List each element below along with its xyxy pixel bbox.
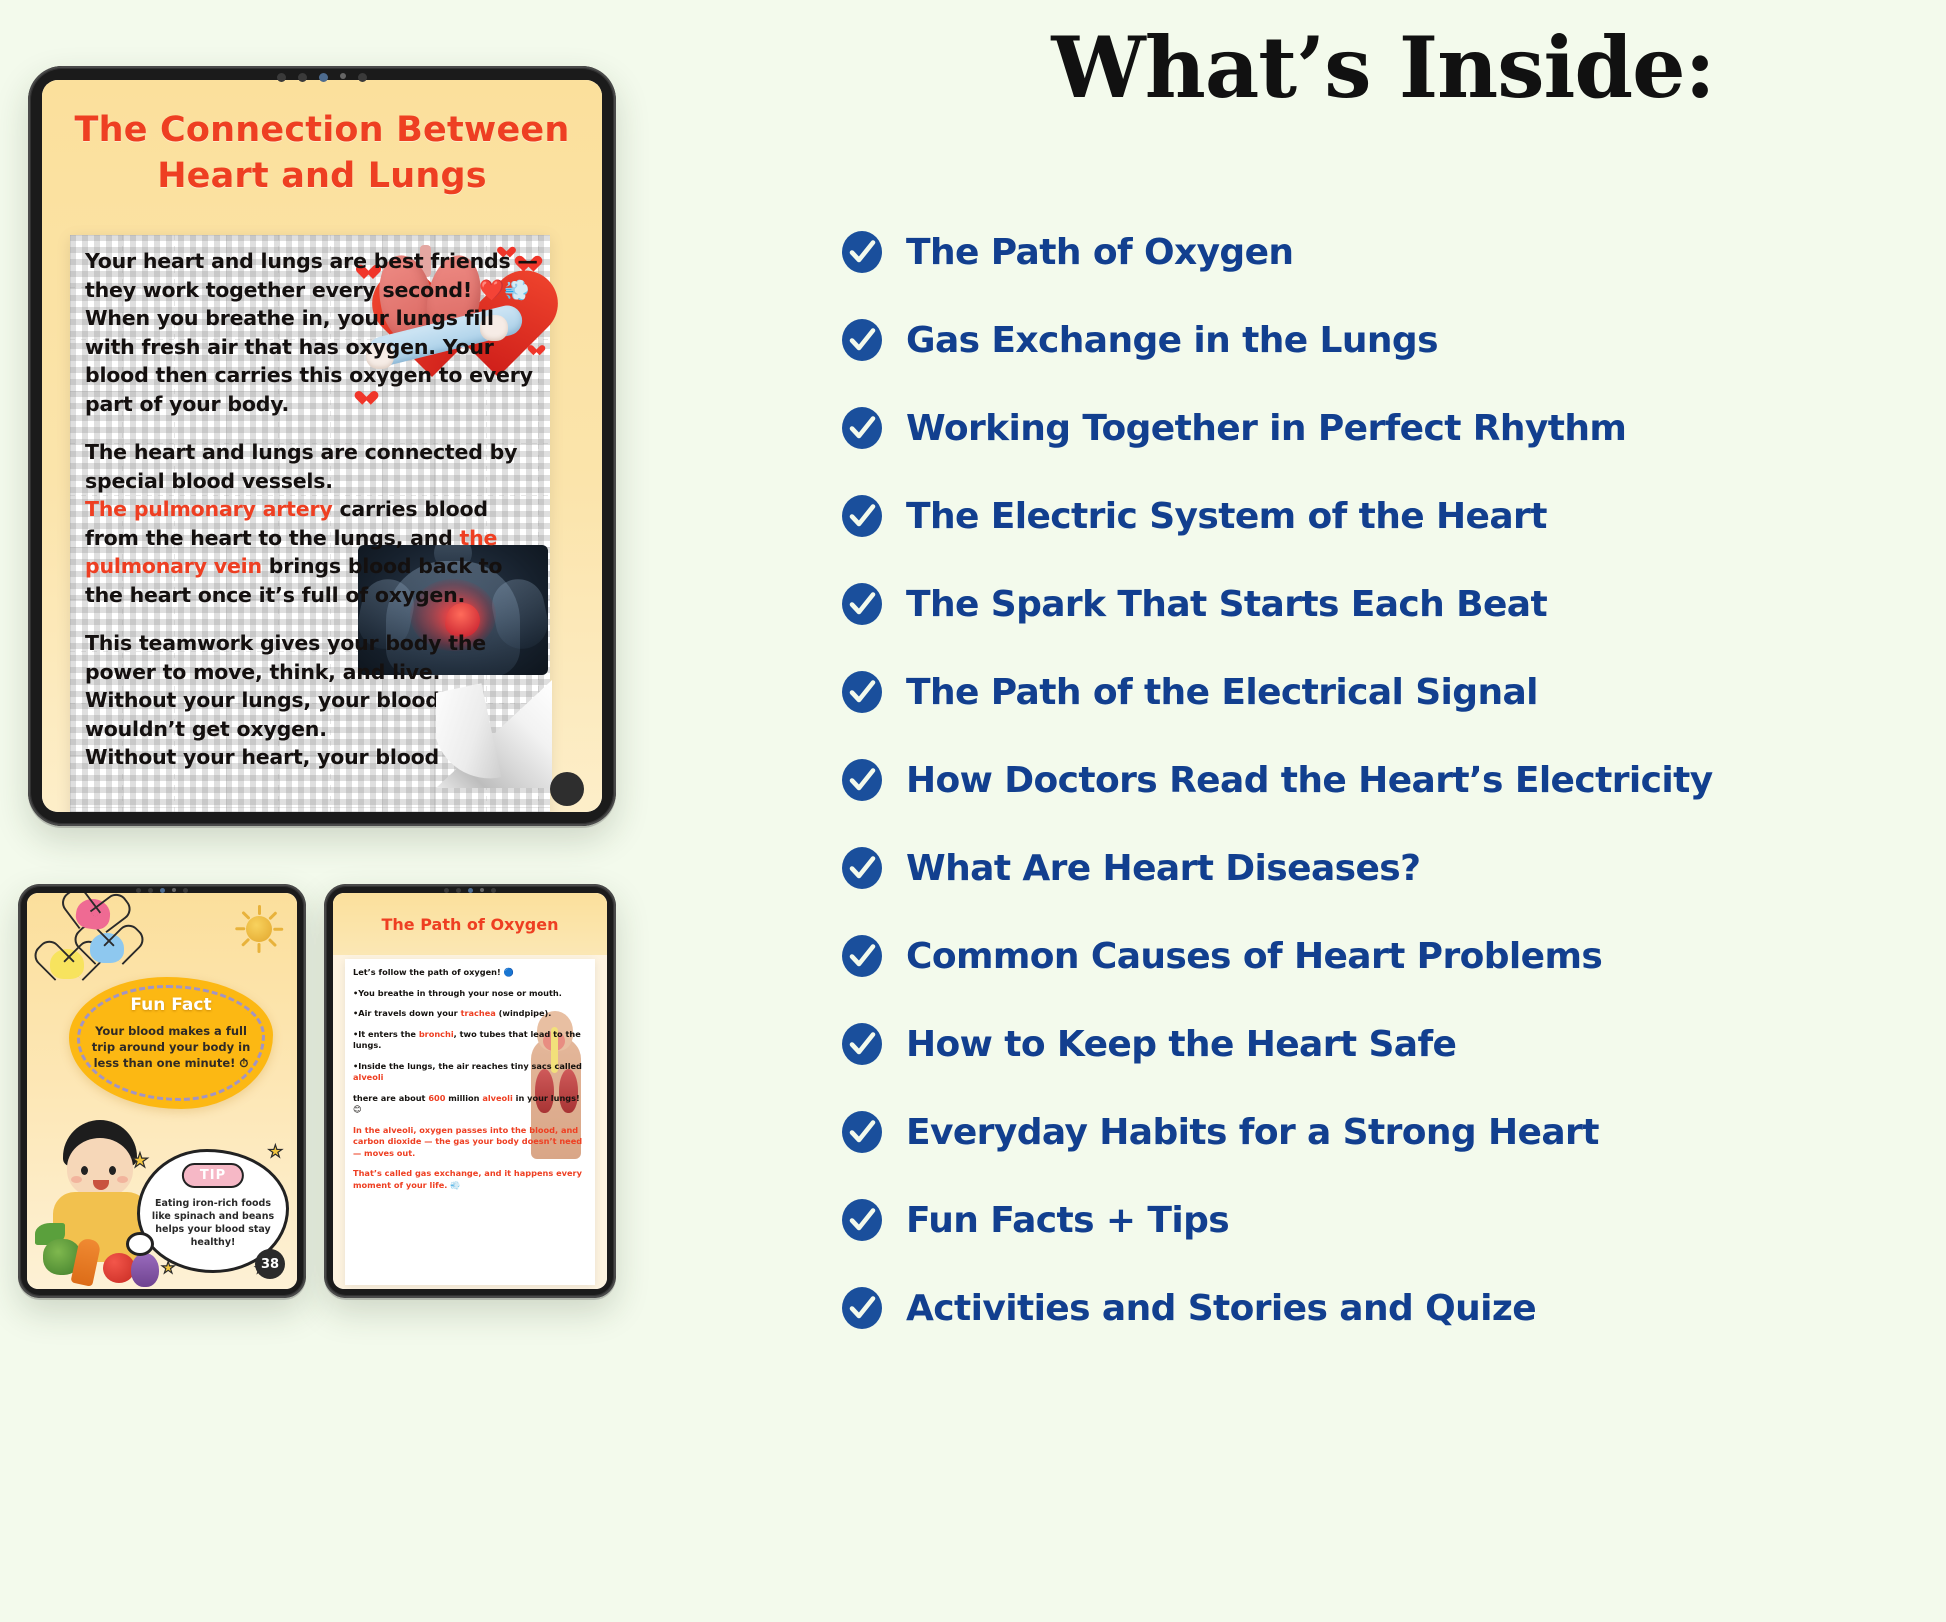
whats-inside-item-label: Working Together in Perfect Rhythm [906,408,1626,449]
tablet-fun-fact-device: Fun Fact Your blood makes a full trip ar… [18,884,306,1298]
whats-inside-item-label: Common Causes of Heart Problems [906,936,1602,977]
paragraph-1: Your heart and lungs are best friends — … [85,247,538,418]
tip-text: Eating iron-rich foods like spinach and … [151,1197,275,1249]
fun-fact-title: Fun Fact [69,995,273,1015]
list-item: That’s called gas exchange, and it happe… [353,1168,587,1191]
devices-column: The Connection Between Heart and Lungs [0,0,820,1622]
whats-inside-item[interactable]: Common Causes of Heart Problems [840,912,1936,1000]
check-circle-icon [840,670,884,714]
heart-doodle-pink-icon [68,893,117,938]
page-number-badge: 38 [255,1249,285,1279]
whats-inside-item-label: Fun Facts + Tips [906,1200,1229,1241]
page-badge [550,772,584,806]
whats-inside-item[interactable]: Fun Facts + Tips [840,1176,1936,1264]
page-curl-corner [436,680,552,788]
list-item: Let’s follow the path of oxygen! 🔵 [353,967,587,979]
content-paper: Your heart and lungs are best friends — … [70,235,550,812]
kid-eye-right [109,1166,116,1175]
star-icon: ★ [161,1261,175,1277]
kid-cheek-right [117,1176,128,1183]
whats-inside-item[interactable]: What Are Heart Diseases? [840,824,1936,912]
whats-inside-item[interactable]: How to Keep the Heart Safe [840,1000,1936,1088]
whats-inside-item-label: How Doctors Read the Heart’s Electricity [906,760,1713,801]
tablet-main-device: The Connection Between Heart and Lungs [28,66,616,826]
whats-inside-item-label: The Electric System of the Heart [906,496,1547,537]
poster-stage: The Connection Between Heart and Lungs [0,0,1946,1622]
whats-inside-item-label: Gas Exchange in the Lungs [906,320,1438,361]
check-circle-icon [840,1022,884,1066]
check-circle-icon [840,1110,884,1154]
kid-cheek-left [71,1176,82,1183]
whats-inside-item-label: The Path of the Electrical Signal [906,672,1538,713]
kid-mouth [93,1180,109,1190]
check-circle-icon [840,758,884,802]
whats-inside-item-label: What Are Heart Diseases? [906,848,1420,889]
oxygen-bullet-list: Let’s follow the path of oxygen! 🔵 •You … [353,967,587,1200]
oxygen-page-title: The Path of Oxygen [382,915,559,934]
check-circle-icon [840,406,884,450]
kid-eye-left [81,1166,88,1175]
whats-inside-item-label: The Path of Oxygen [906,232,1293,273]
whats-inside-item[interactable]: How Doctors Read the Heart’s Electricity [840,736,1936,824]
star-icon: ★ [131,1151,149,1171]
whats-inside-item[interactable]: Everyday Habits for a Strong Heart [840,1088,1936,1176]
whats-inside-item[interactable]: Working Together in Perfect Rhythm [840,384,1936,472]
check-circle-icon [840,1198,884,1242]
tablet-path-of-oxygen-device: The Path of Oxygen Let’s follow the path… [324,884,616,1298]
list-item: •It enters the bronchi, two tubes that l… [353,1029,587,1052]
whats-inside-item[interactable]: The Spark That Starts Each Beat [840,560,1936,648]
list-item: there are about 600 million alveoli in y… [353,1093,587,1116]
check-circle-icon [840,494,884,538]
whats-inside-item[interactable]: Activities and Stories and Quize [840,1264,1936,1352]
whats-inside-item-label: How to Keep the Heart Safe [906,1024,1456,1065]
whats-inside-list: The Path of OxygenGas Exchange in the Lu… [840,208,1936,1352]
star-icon: ★ [268,1143,283,1160]
paragraph-2: The heart and lungs are connected by spe… [85,438,538,609]
whats-inside-item-label: Everyday Habits for a Strong Heart [906,1112,1599,1153]
page-title-line2: Heart and Lungs [42,154,602,200]
whats-inside-title: What’s Inside: [820,18,1946,117]
whats-inside-item[interactable]: The Path of the Electrical Signal [840,648,1936,736]
page-title: The Connection Between Heart and Lungs [42,108,602,199]
kid-face [67,1138,133,1198]
list-item: •Air travels down your trachea (windpipe… [353,1008,587,1020]
list-item: In the alveoli, oxygen passes into the b… [353,1125,587,1160]
check-circle-icon [840,230,884,274]
whats-inside-item-label: Activities and Stories and Quize [906,1288,1536,1329]
whats-inside-item[interactable]: The Electric System of the Heart [840,472,1936,560]
page-title-line1: The Connection Between [42,108,602,154]
list-item: •Inside the lungs, the air reaches tiny … [353,1061,587,1084]
check-circle-icon [840,846,884,890]
check-circle-icon [840,318,884,362]
check-circle-icon [840,934,884,978]
check-circle-icon [840,582,884,626]
tip-label: TIP [182,1163,244,1188]
check-circle-icon [840,1286,884,1330]
tablet-fun-fact-screen: Fun Fact Your blood makes a full trip ar… [27,893,297,1289]
whats-inside-item-label: The Spark That Starts Each Beat [906,584,1547,625]
fun-fact-card: Fun Fact Your blood makes a full trip ar… [69,977,273,1109]
tablet-main-screen: The Connection Between Heart and Lungs [42,80,602,812]
oxygen-page-header: The Path of Oxygen [333,893,607,955]
whats-inside-item[interactable]: Gas Exchange in the Lungs [840,296,1936,384]
whats-inside-column: What’s Inside: The Path of OxygenGas Exc… [820,0,1946,1622]
tablet-path-of-oxygen-screen: The Path of Oxygen Let’s follow the path… [333,893,607,1289]
oxygen-content-paper: Let’s follow the path of oxygen! 🔵 •You … [345,959,595,1285]
list-item: •You breathe in through your nose or mou… [353,988,587,1000]
fun-fact-text: Your blood makes a full trip around your… [85,1023,257,1071]
whats-inside-item[interactable]: The Path of Oxygen [840,208,1936,296]
sun-icon [237,907,281,951]
